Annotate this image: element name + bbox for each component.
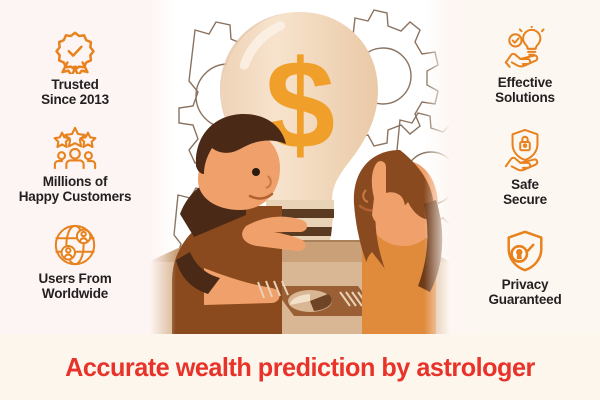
feature-label: Users From Worldwide [38,271,111,301]
left-feature-column: Trusted Since 2013 Millions of Happy Cus… [0,0,150,334]
panel-right-fade [424,0,450,334]
right-feature-column: Effective Solutions Safe Secure [450,0,600,334]
panel-left-fade [150,0,176,334]
feature-label: Trusted Since 2013 [41,77,109,107]
feature-effective-solutions[interactable]: Effective Solutions [450,26,600,105]
feature-label: Effective Solutions [495,75,555,105]
feature-users-worldwide[interactable]: Users From Worldwide [0,222,150,301]
badge-check-icon [52,28,98,74]
globe-users-icon [52,222,98,268]
page-title: Accurate wealth prediction by astrologer [9,334,591,400]
promo-poster: $ [0,0,600,400]
feature-happy-customers[interactable]: Millions of Happy Customers [0,125,150,204]
feature-label: Safe Secure [503,177,547,207]
feature-privacy-guaranteed[interactable]: Privacy Guaranteed [450,228,600,307]
feature-trusted-since[interactable]: Trusted Since 2013 [0,28,150,107]
feature-safe-secure[interactable]: Safe Secure [450,128,600,207]
shield-keyhole-check-icon [502,228,548,274]
hand-shield-lock-icon [502,128,548,174]
hand-lightbulb-check-icon [502,26,548,72]
feature-label: Millions of Happy Customers [19,174,132,204]
feature-label: Privacy Guaranteed [488,277,561,307]
astrology-consultation-illustration: $ [150,0,450,334]
stars-people-icon [52,125,98,171]
